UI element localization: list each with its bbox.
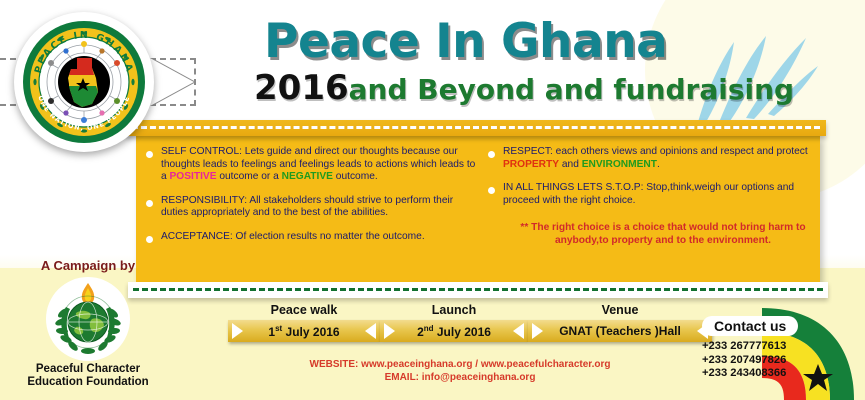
text-run: ACCEPTANCE: Of election results no matte… — [161, 231, 425, 242]
text-run: RESPECT: each others views and opinions … — [503, 146, 808, 157]
email-line[interactable]: EMAIL: info@peaceinghana.org — [240, 371, 680, 384]
highlight-environment: ENVIRONMENT — [582, 159, 657, 170]
highlight-negative: NEGATIVE — [282, 171, 333, 182]
ordinal-suffix: st — [275, 324, 282, 333]
section-divider — [128, 282, 828, 298]
contact-numbers-list: +233 267777613+233 207497826+233 2434083… — [702, 340, 786, 381]
arrow-head-inner-decoration — [150, 60, 190, 104]
campaign-org-line1: Peaceful Character — [36, 363, 140, 375]
pledge-item-text: RESPECT: each others views and opinions … — [503, 146, 814, 171]
highlight-positive: POSITIVE — [170, 171, 217, 182]
pledge-item-text: RESPONSIBILITY: All stakeholders should … — [161, 195, 482, 220]
pledge-item-stop: IN ALL THINGS LETS S.T.O.P: Stop,think,w… — [484, 182, 814, 207]
pledge-footnote: ** The right choice is a choice that wou… — [484, 221, 814, 247]
event-label: Peace walk — [228, 303, 380, 317]
campaign-org-name: Peaceful Character Education Foundation — [8, 363, 168, 389]
chevron-right-icon — [384, 323, 395, 339]
text-run: outcome or a — [217, 171, 282, 182]
event-ribbon[interactable]: 1st July 2016 — [228, 320, 380, 342]
chevron-left-icon — [513, 323, 524, 339]
title-year: 2016 — [254, 68, 349, 108]
banner-root: PEACE IN GHANA ONE NATION, ONE PEOPLE Pe… — [0, 0, 865, 400]
chevron-right-icon — [532, 323, 543, 339]
event-ribbon[interactable]: GNAT (Teachers )Hall — [528, 320, 712, 342]
event-value: 2nd July 2016 — [398, 324, 510, 339]
pledge-item-respect: RESPECT: each others views and opinions … — [484, 146, 814, 171]
event-ribbon[interactable]: 2nd July 2016 — [380, 320, 528, 342]
pledge-panel: SELF CONTROL: Lets guide and direct our … — [136, 136, 820, 284]
pledge-item-responsibility: RESPONSIBILITY: All stakeholders should … — [142, 195, 482, 220]
contact-heading: Contact us — [702, 316, 798, 336]
peace-in-ghana-emblem: PEACE IN GHANA ONE NATION, ONE PEOPLE — [14, 12, 154, 152]
campaign-heading: A Campaign by — [8, 258, 168, 273]
event-3: VenueGNAT (Teachers )Hall — [528, 303, 712, 342]
event-label: Launch — [380, 303, 528, 317]
contact-phone-number[interactable]: +233 207497826 — [702, 354, 786, 368]
subtitle-line: 2016and Beyond and fundraising — [250, 71, 750, 105]
text-run: outcome. — [333, 171, 378, 182]
text-run: IN ALL THINGS LETS S.T.O.P: Stop,think,w… — [503, 182, 794, 206]
title-tail: and Beyond and fundraising — [349, 73, 794, 106]
text-run: and — [559, 159, 582, 170]
event-details-row: Peace walk1st July 2016Launch2nd July 20… — [228, 303, 688, 355]
pcef-globe-flame-logo — [46, 277, 130, 361]
text-run: . — [657, 159, 660, 170]
campaign-org-line2: Education Foundation — [27, 376, 148, 388]
contact-web-block: WEBSITE: www.peaceinghana.org / www.peac… — [240, 358, 680, 384]
campaign-credit-block: A Campaign by — [8, 258, 168, 389]
pledge-column-right: RESPECT: each others views and opinions … — [484, 146, 814, 258]
highlight-property: PROPERTY — [503, 159, 559, 170]
ordinal-suffix: nd — [424, 324, 434, 333]
pledge-column-left: SELF CONTROL: Lets guide and direct our … — [142, 146, 482, 255]
text-run: RESPONSIBILITY: All stakeholders should … — [161, 195, 453, 219]
pledge-item-text: ACCEPTANCE: Of election results no matte… — [161, 231, 482, 244]
pledge-footnote-text: ** The right choice is a choice that wou… — [512, 221, 814, 247]
panel-top-bar-decoration — [126, 120, 826, 136]
event-value: GNAT (Teachers )Hall — [540, 324, 700, 338]
pledge-item-text: IN ALL THINGS LETS S.T.O.P: Stop,think,w… — [503, 182, 814, 207]
chevron-left-icon — [365, 323, 376, 339]
event-1: Peace walk1st July 2016 — [228, 303, 380, 342]
contact-phone-number[interactable]: +233 267777613 — [702, 340, 786, 354]
website-line[interactable]: WEBSITE: www.peaceinghana.org / www.peac… — [240, 358, 680, 371]
contact-phone-number[interactable]: +233 243408366 — [702, 367, 786, 381]
event-label: Venue — [528, 303, 712, 317]
page-title: Peace In Ghana — [250, 18, 750, 65]
event-value: 1st July 2016 — [249, 324, 358, 339]
contact-us-block: Contact us +233 267777613+233 207497826+… — [694, 308, 864, 400]
chevron-right-icon — [232, 323, 243, 339]
pledge-item-self-control: SELF CONTROL: Lets guide and direct our … — [142, 146, 482, 184]
pledge-item-text: SELF CONTROL: Lets guide and direct our … — [161, 146, 482, 184]
event-2: Launch2nd July 2016 — [380, 303, 528, 342]
title-block: Peace In Ghana 2016and Beyond and fundra… — [250, 18, 750, 120]
pledge-item-acceptance: ACCEPTANCE: Of election results no matte… — [142, 231, 482, 244]
